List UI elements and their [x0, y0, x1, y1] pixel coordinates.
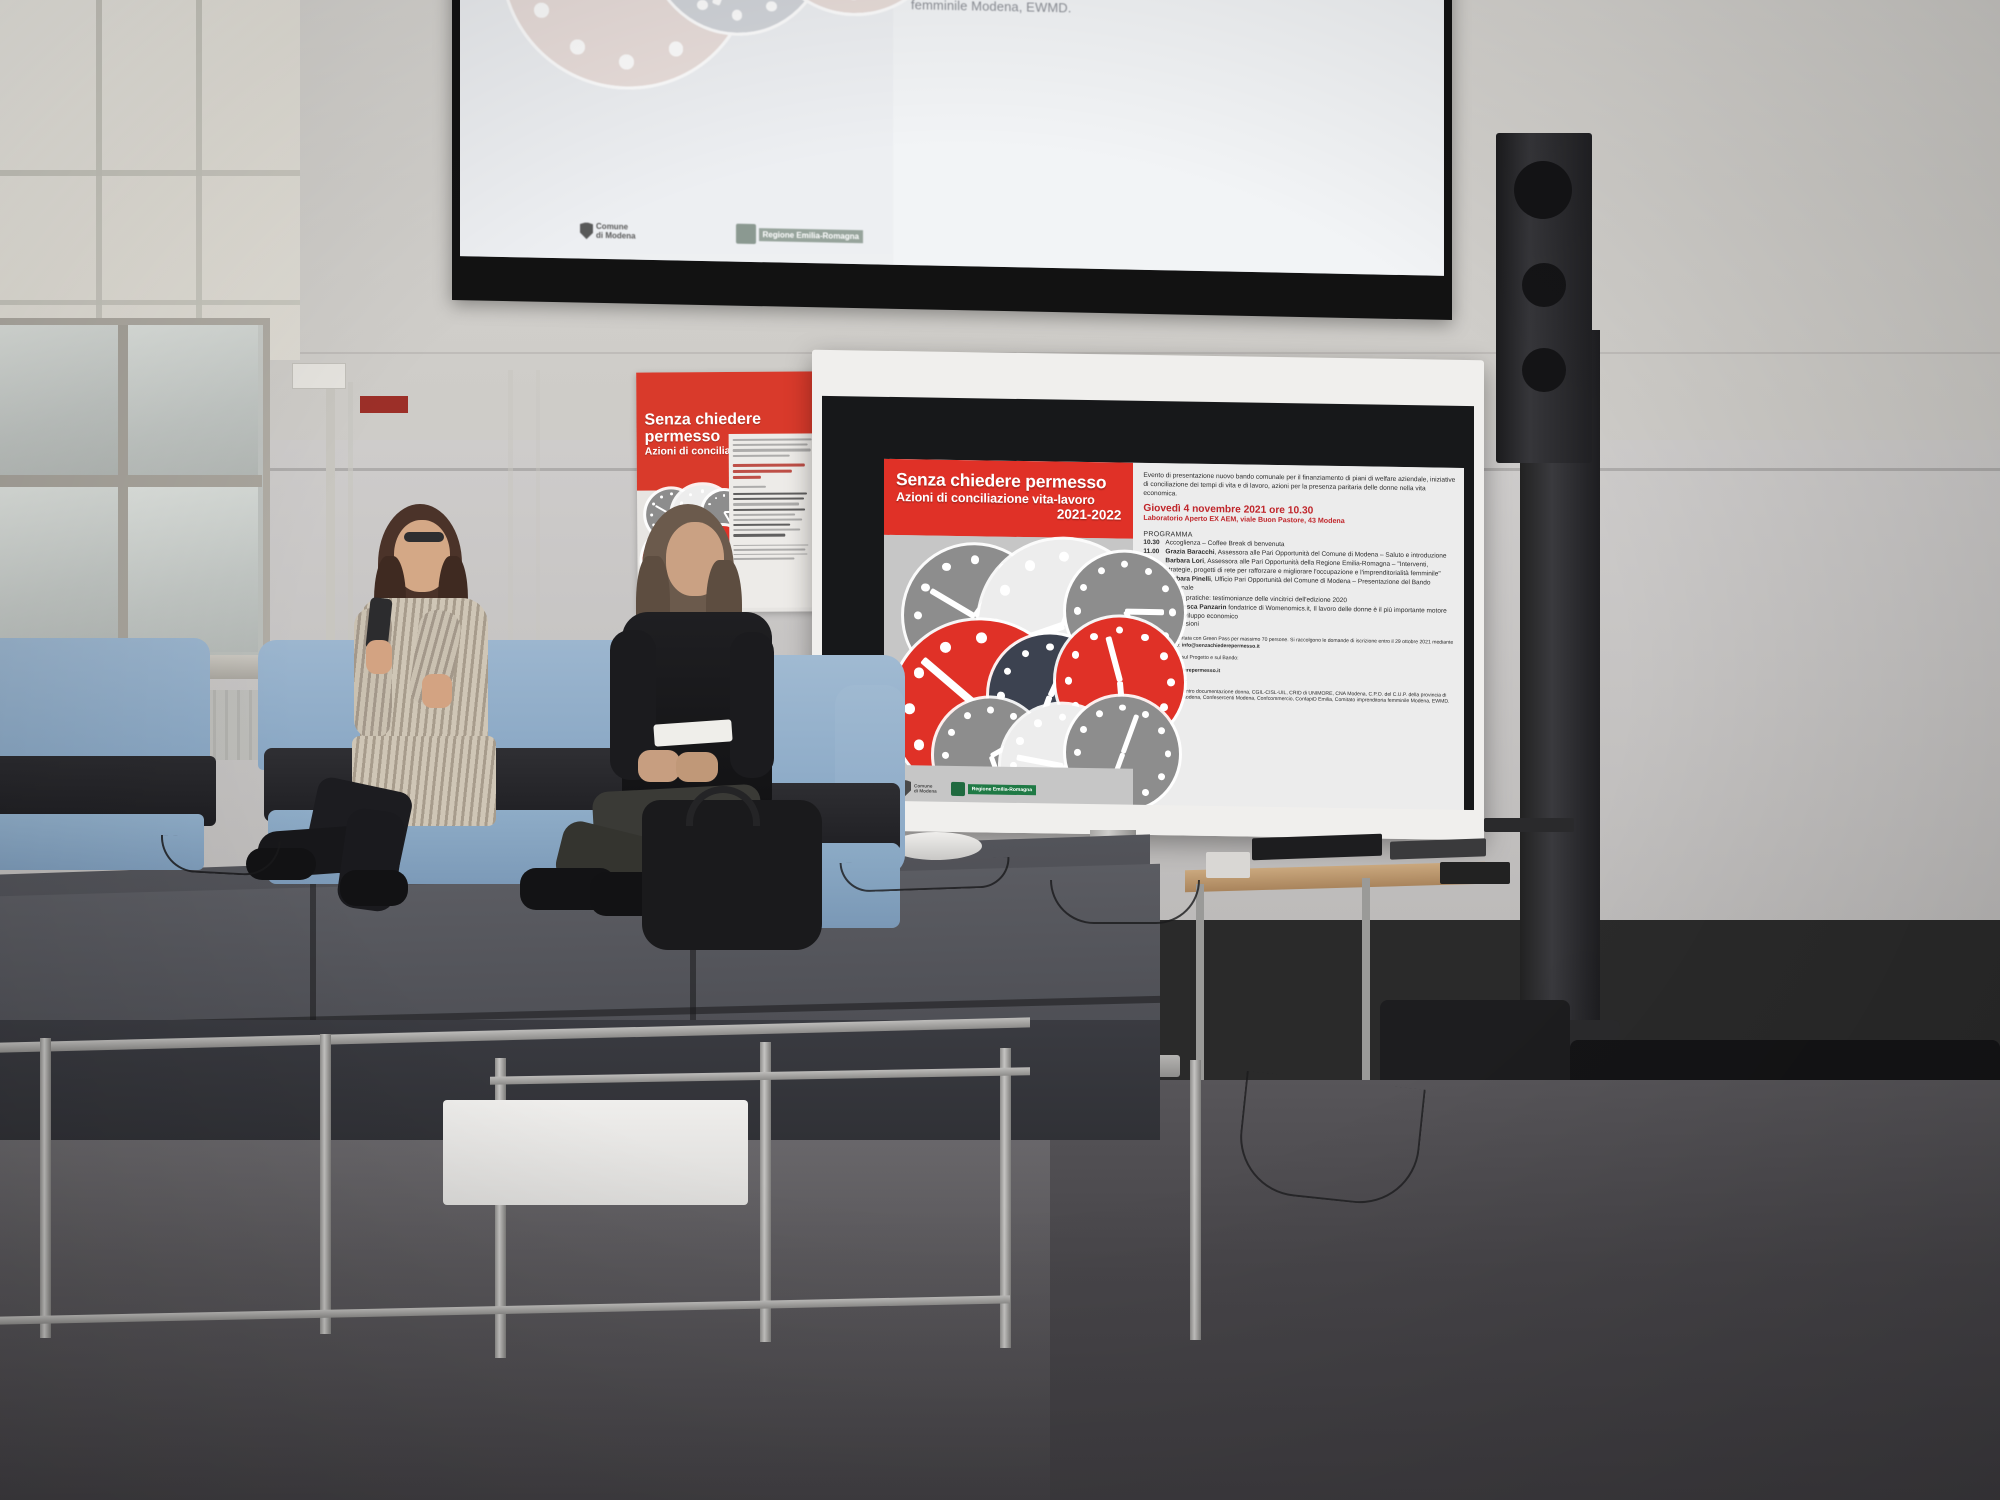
clock-tick [1000, 585, 1010, 595]
white-pedestal [443, 1100, 748, 1205]
clock-tick [1158, 773, 1165, 780]
clock-tick [1025, 560, 1035, 570]
clock-tick [940, 641, 951, 652]
clock-tick [921, 583, 930, 592]
hand-left [638, 750, 680, 782]
clock-tick [1145, 567, 1152, 574]
stage-leg-6 [1190, 1060, 1201, 1340]
clock-tick [723, 494, 726, 497]
clock-hand [1125, 609, 1164, 615]
eyeglasses-icon [404, 532, 444, 542]
table-leg-right [1362, 878, 1370, 1098]
hand-right [676, 752, 718, 782]
clock-tick [1046, 643, 1053, 650]
slide-banner: Senza chiedere permesso Azioni di concil… [884, 459, 1133, 539]
region-logo-label: Regione Emilia-Romagna [759, 228, 863, 243]
comune-logo-projected: Comune di Modena [580, 221, 636, 240]
clock-tick [715, 497, 718, 500]
program-row: 12.10Francesca Panzarin fondatrice di Wo… [1143, 603, 1456, 634]
slide-info-site: www.senzachiederepermesso.it [1143, 667, 1456, 679]
comune-logo-line2: di Modena [914, 788, 937, 794]
clock-hand [929, 588, 976, 620]
slide-text-panel: Evento di presentazione nuovo bando comu… [1133, 463, 1464, 820]
program-time: 10.30 [1143, 539, 1165, 548]
projected-slide: 12.10 Francesca Panzarin fondatrice di W… [460, 0, 1444, 276]
clock-tick [964, 713, 971, 720]
wall-pipe-4 [536, 370, 540, 660]
clock-tick [1167, 678, 1175, 686]
clock-tick [1004, 667, 1011, 674]
program-text: Grazia Baracchi, Assessora alle Pari Opp… [1165, 549, 1456, 579]
clock-tick [1072, 651, 1080, 659]
clock-tick [689, 493, 693, 497]
conduit-box [292, 363, 346, 389]
slide-partners-heading: In partenariato con: [1143, 677, 1456, 688]
stage-leg-4 [760, 1042, 771, 1342]
clock-tick [914, 611, 923, 620]
stage-leg-1 [40, 1038, 51, 1338]
floor-cable-2 [840, 857, 1011, 893]
projection-screen: 12.10 Francesca Panzarin fondatrice di W… [452, 0, 1452, 320]
slide-program-list: 10.30Accoglienza – Coffee Break di benve… [1143, 539, 1456, 634]
clock-tick [1142, 711, 1149, 718]
clock-tick [1034, 719, 1041, 726]
clock-tick [971, 555, 980, 564]
clock-tick [1141, 634, 1149, 642]
clock-tick [766, 1, 776, 12]
floor-cable-3 [1050, 880, 1200, 924]
conference-room-photo: 12.10 Francesca Panzarin fondatrice di W… [0, 0, 2000, 1500]
clock-tick [619, 54, 634, 69]
clock-tick [1098, 567, 1105, 574]
sofa-left [0, 638, 220, 868]
slide-partners: FORMODENA, Centro documentazione donna, … [1143, 688, 1456, 706]
clock-tick [1142, 789, 1149, 796]
small-device [1206, 852, 1250, 878]
clock-tick [987, 707, 994, 714]
slide-entry-note: Entrata contingentata con Green Pass per… [1143, 635, 1456, 653]
clock-tick [976, 632, 987, 643]
clock-tick [669, 42, 684, 57]
person-listener [580, 500, 810, 920]
slide-graphic-panel: Senza chiedere permesso Azioni di concil… [884, 459, 1133, 815]
clock-tick [1090, 633, 1098, 641]
clock-tick [534, 3, 549, 18]
clock-tick [1169, 609, 1176, 616]
region-mark-icon [951, 782, 965, 796]
clock-tick [1119, 704, 1126, 711]
boot-right [340, 870, 408, 906]
display-monitor: Senza chiedere permesso Azioni di concil… [812, 350, 1484, 841]
frosted-window-upper [0, 0, 300, 360]
clock-tick [670, 493, 673, 496]
clock-tick [1116, 626, 1124, 634]
projected-partner-line: femminile Modena, EWMD. [911, 0, 1418, 24]
keyboard[interactable] [1252, 834, 1382, 861]
clock-tick [1158, 728, 1165, 735]
clock-tick [1010, 713, 1017, 720]
window-lower [0, 318, 270, 670]
slide-info-note: Per informazioni sul Progetto e sul Band… [1143, 654, 1456, 666]
clock-hand [1120, 714, 1139, 754]
clock-tick [1074, 749, 1081, 756]
projection-surface: 12.10 Francesca Panzarin fondatrice di W… [460, 0, 1444, 276]
region-mark-icon [736, 224, 756, 244]
person-speaker [330, 498, 510, 888]
cable-bundle [1440, 862, 1510, 884]
window-area [0, 0, 300, 700]
projected-partners: In partenariato con: FORMODENA, Centro d… [911, 0, 1418, 24]
clock-tick [732, 10, 742, 21]
clock-tick [942, 563, 951, 572]
clock-tick [1065, 677, 1073, 685]
clock-tick [660, 496, 663, 499]
clock-tick [1074, 607, 1081, 614]
clock-tick [697, 0, 707, 10]
monitor-slide: Senza chiedere permesso Azioni di concil… [884, 459, 1464, 820]
clock-tick [1080, 584, 1087, 591]
clock-tick [942, 752, 949, 759]
clock-tick [1121, 561, 1128, 568]
clock-tick [1160, 653, 1168, 661]
clock-tick [948, 729, 955, 736]
clock-tick [904, 703, 915, 714]
region-logo: Regione Emilia-Romagna [951, 782, 1036, 797]
slide-clock-graphic [884, 535, 1133, 771]
program-row: 11.00Grazia Baracchi, Assessora alle Par… [1143, 548, 1456, 579]
region-logo-label: Regione Emilia-Romagna [968, 784, 1036, 795]
stage-leg-2 [320, 1034, 331, 1334]
laptop-edge [1484, 818, 1574, 832]
clock-tick [1016, 737, 1023, 744]
comune-logo-line2: di Modena [596, 231, 636, 241]
region-logo-projected: Regione Emilia-Romagna [736, 224, 863, 247]
crest-icon [580, 222, 593, 239]
clock-hand [712, 0, 741, 6]
clock-tick [914, 739, 925, 750]
remote-control[interactable] [1390, 838, 1486, 859]
clock-tick [1162, 585, 1169, 592]
clock-tick [1096, 710, 1103, 717]
projected-slide-text: 12.10 Francesca Panzarin fondatrice di W… [893, 0, 1444, 276]
clock-tick [1022, 650, 1029, 657]
slide-entry-email: info@senzachiederepermesso.it [1182, 642, 1260, 649]
clock-tick [1080, 726, 1087, 733]
program-text: Francesca Panzarin fondatrice di Womenom… [1165, 603, 1456, 633]
monitor-bezel: Senza chiedere permesso Azioni di concil… [822, 396, 1474, 810]
speaker-cabinet [1496, 133, 1592, 463]
slide-years: 2021-2022 [896, 504, 1125, 523]
wall-sign [360, 396, 408, 413]
clock-tick [1059, 713, 1066, 720]
clock-tick [1059, 552, 1069, 562]
clock-tick [1165, 750, 1172, 757]
clock-hand [1105, 636, 1122, 682]
clock-tick [570, 40, 585, 55]
clock-tick [701, 490, 705, 494]
clock-tick [914, 667, 925, 678]
slide-intro: Evento di presentazione nuovo bando comu… [1143, 472, 1456, 503]
clock-tick [1160, 704, 1168, 712]
